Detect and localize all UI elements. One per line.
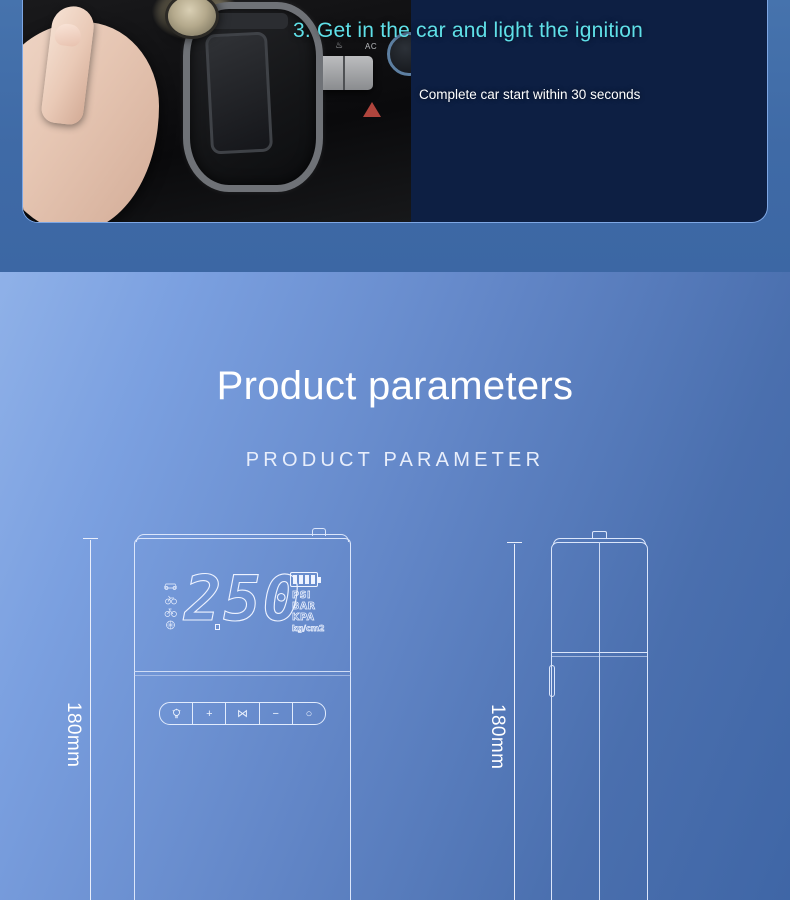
side-center-line (599, 542, 600, 900)
unit-kpa: KPA (292, 612, 325, 623)
bicycle-mode-icon (162, 606, 179, 618)
battery-bar (311, 575, 315, 584)
control-button-strip[interactable]: + ⋈ − ○ (159, 702, 326, 725)
front-seam-line-secondary (134, 675, 351, 676)
ball-mode-icon (162, 619, 179, 631)
light-icon (171, 708, 182, 720)
lcd-mode-icons (162, 580, 180, 632)
decrease-button[interactable]: − (260, 703, 293, 724)
step-title: 3. Get in the car and light the ignition (293, 19, 763, 43)
lcd-unit-labels: PSI BAR KPA kg/cm2 (292, 590, 325, 634)
side-seam-line (551, 652, 648, 653)
unit-kgcm2: kg/cm2 (292, 623, 325, 634)
side-switch-outline (549, 665, 555, 697)
side-dimension-tick (507, 542, 522, 543)
lcd-display: 250 PSI BAR KPA kg/cm2 (160, 572, 340, 642)
page-root: ♨ AC 3. Get in the car and light the ign… (0, 0, 790, 900)
front-dimension-line (90, 540, 91, 900)
ac-label: AC (365, 42, 377, 51)
unit-psi: PSI (292, 590, 325, 601)
side-seam-line-secondary (551, 656, 648, 657)
front-dimension-tick (83, 538, 98, 539)
battery-icon (290, 572, 318, 587)
product-parameters-section: Product parameters PRODUCT PARAMETER 180… (0, 272, 790, 900)
front-dimension-label: 180mm (62, 702, 84, 767)
unit-bar: BAR (292, 601, 325, 612)
hazard-light-icon (363, 102, 381, 117)
battery-bar (293, 575, 297, 584)
lcd-pressure-value: 250 (184, 568, 302, 630)
battery-bar (299, 575, 303, 584)
car-mode-icon (162, 580, 179, 592)
step-section: ♨ AC 3. Get in the car and light the ign… (0, 0, 790, 272)
lcd-decimal-point (215, 624, 220, 630)
light-button[interactable] (160, 703, 193, 724)
front-seam-line (134, 671, 351, 672)
motorcycle-mode-icon (162, 593, 179, 605)
mode-button[interactable]: ⋈ (226, 703, 259, 724)
increase-button[interactable]: + (193, 703, 226, 724)
bezel-inner (205, 31, 273, 154)
product-diagrams: 180mm (0, 272, 790, 900)
side-dimension-label: 180mm (486, 704, 508, 769)
bezel-slot (204, 13, 288, 29)
dashboard-buttons (315, 56, 373, 90)
step-subtitle: Complete car start within 30 seconds (419, 87, 768, 102)
step-card: ♨ AC 3. Get in the car and light the ign… (22, 0, 768, 223)
power-button[interactable]: ○ (293, 703, 325, 724)
battery-bar (305, 575, 309, 584)
side-dimension-line (514, 544, 515, 900)
